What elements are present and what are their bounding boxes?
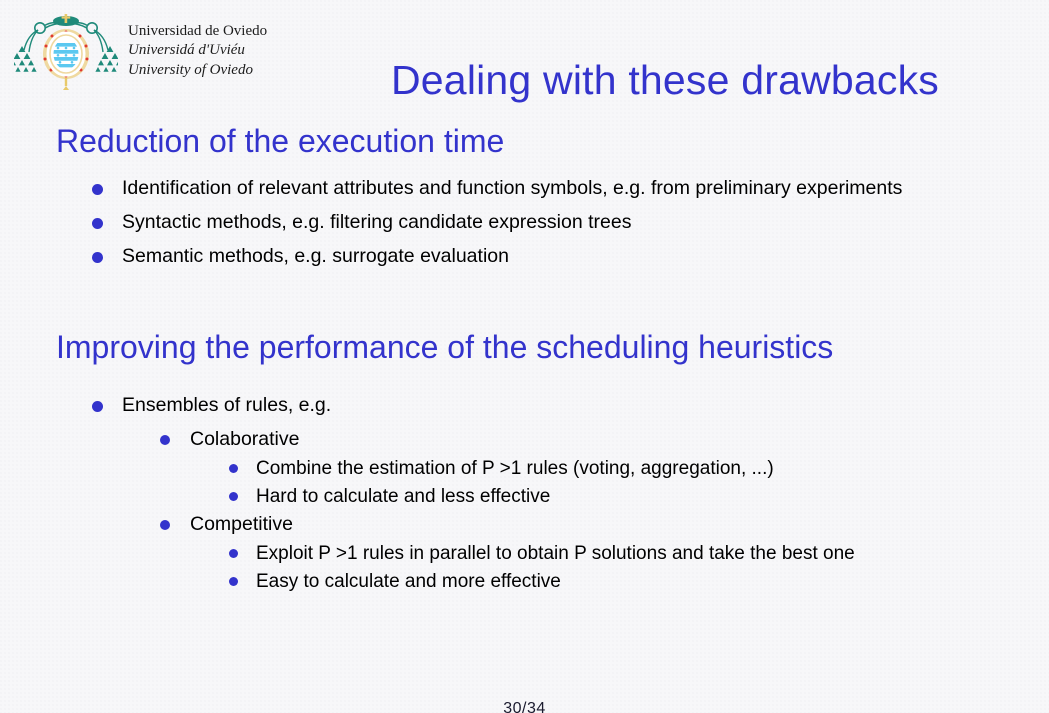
bullet-dot-icon — [229, 577, 238, 586]
logo-name-spanish: Universidad de Oviedo — [128, 22, 267, 41]
logo-name-asturian: Universidá d'Uviéu — [128, 41, 267, 60]
list-item: Identification of relevant attributes an… — [0, 176, 1000, 201]
bullet-dot-icon — [92, 184, 103, 195]
list-item: Ensembles of rules, e.g. — [0, 393, 1000, 418]
list-item: Easy to calculate and more effective — [0, 569, 1000, 594]
bullet-dot-icon — [92, 401, 103, 412]
list-item-text: Ensembles of rules, e.g. — [122, 393, 1000, 418]
list-item: Semantic methods, e.g. surrogate evaluat… — [0, 244, 1000, 269]
list-item-text: Semantic methods, e.g. surrogate evaluat… — [122, 244, 962, 269]
section-heading-reduction: Reduction of the execution time — [56, 123, 504, 160]
section-heading-improving: Improving the performance of the schedul… — [56, 329, 833, 366]
bullet-dot-icon — [160, 520, 170, 530]
page-number: 30/34 — [0, 700, 1049, 713]
list-item: Syntactic methods, e.g. filtering candid… — [0, 210, 1000, 235]
list-item-text: Hard to calculate and less effective — [256, 484, 981, 509]
university-of-oviedo-crest-icon — [14, 12, 118, 90]
list-item: Competitive — [0, 512, 1000, 537]
bullet-dot-icon — [229, 492, 238, 501]
list-item: Exploit P >1 rules in parallel to obtain… — [0, 541, 1000, 566]
logo-text-block: Universidad de Oviedo Universidá d'Uviéu… — [128, 22, 267, 80]
list-item-text: Exploit P >1 rules in parallel to obtain… — [256, 541, 981, 566]
list-item: Hard to calculate and less effective — [0, 484, 1000, 509]
presentation-slide: Universidad de Oviedo Universidá d'Uviéu… — [0, 0, 1049, 713]
logo-name-english: University of Oviedo — [128, 61, 267, 80]
bullet-dot-icon — [92, 252, 103, 263]
list-item: Colaborative — [0, 427, 1000, 452]
university-logo: Universidad de Oviedo Universidá d'Uviéu… — [14, 12, 267, 90]
list-item-text: Identification of relevant attributes an… — [122, 176, 962, 201]
slide-header: Universidad de Oviedo Universidá d'Uviéu… — [0, 0, 1049, 100]
list-item-text: Competitive — [190, 512, 1000, 537]
bullet-dot-icon — [229, 549, 238, 558]
bullet-list-reduction: Identification of relevant attributes an… — [0, 176, 1000, 278]
list-item-text: Colaborative — [190, 427, 1000, 452]
slide-title: Dealing with these drawbacks — [300, 57, 1030, 104]
list-item-text: Combine the estimation of P >1 rules (vo… — [256, 456, 981, 481]
bullet-list-improving: Ensembles of rules, e.g. Colaborative Co… — [0, 393, 1000, 597]
bullet-dot-icon — [92, 218, 103, 229]
list-item: Combine the estimation of P >1 rules (vo… — [0, 456, 1000, 481]
bullet-dot-icon — [229, 464, 238, 473]
bullet-dot-icon — [160, 435, 170, 445]
list-item-text: Easy to calculate and more effective — [256, 569, 981, 594]
list-item-text: Syntactic methods, e.g. filtering candid… — [122, 210, 962, 235]
